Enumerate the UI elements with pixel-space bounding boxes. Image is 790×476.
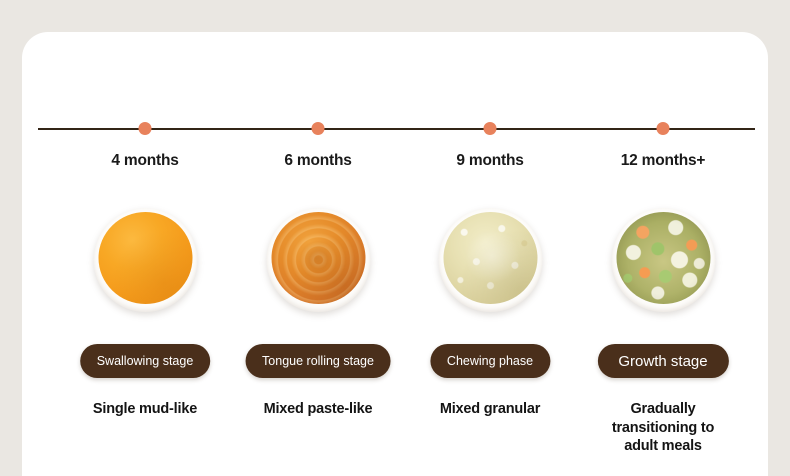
stage-month-label: 4 months (59, 152, 232, 170)
bowl-orange-paste-icon (266, 208, 370, 312)
stage-caption: Mixed paste-like (238, 400, 398, 419)
food-surface (271, 212, 365, 304)
timeline-dot-9-months[interactable] (484, 122, 497, 135)
timeline-dot-6-months[interactable] (312, 122, 325, 135)
stage-month-label: 12 months+ (577, 152, 750, 170)
stage-badge[interactable]: Chewing phase (430, 344, 550, 378)
stage-badge[interactable]: Growth stage (597, 344, 728, 378)
food-surface (443, 212, 537, 304)
bowl-orange-puree-icon (93, 208, 197, 312)
food-surface (616, 212, 710, 304)
bowl-pale-granular-icon (438, 208, 542, 312)
food-surface (98, 212, 192, 304)
stage-caption: Mixed granular (410, 400, 570, 419)
timeline-dot-4-months[interactable] (139, 122, 152, 135)
stage-badge[interactable]: Tongue rolling stage (245, 344, 391, 378)
stage-badge[interactable]: Swallowing stage (80, 344, 211, 378)
infographic-card: 4 months Swallowing stage Single mud-lik… (22, 32, 768, 476)
stage-caption: Single mud-like (65, 400, 225, 419)
timeline-dot-12-months[interactable] (657, 122, 670, 135)
stage-month-label: 6 months (232, 152, 405, 170)
bowl-chunky-mixed-icon (611, 208, 715, 312)
stage-caption: Gradually transitioning to adult meals (603, 400, 723, 456)
stage-month-label: 9 months (404, 152, 577, 170)
